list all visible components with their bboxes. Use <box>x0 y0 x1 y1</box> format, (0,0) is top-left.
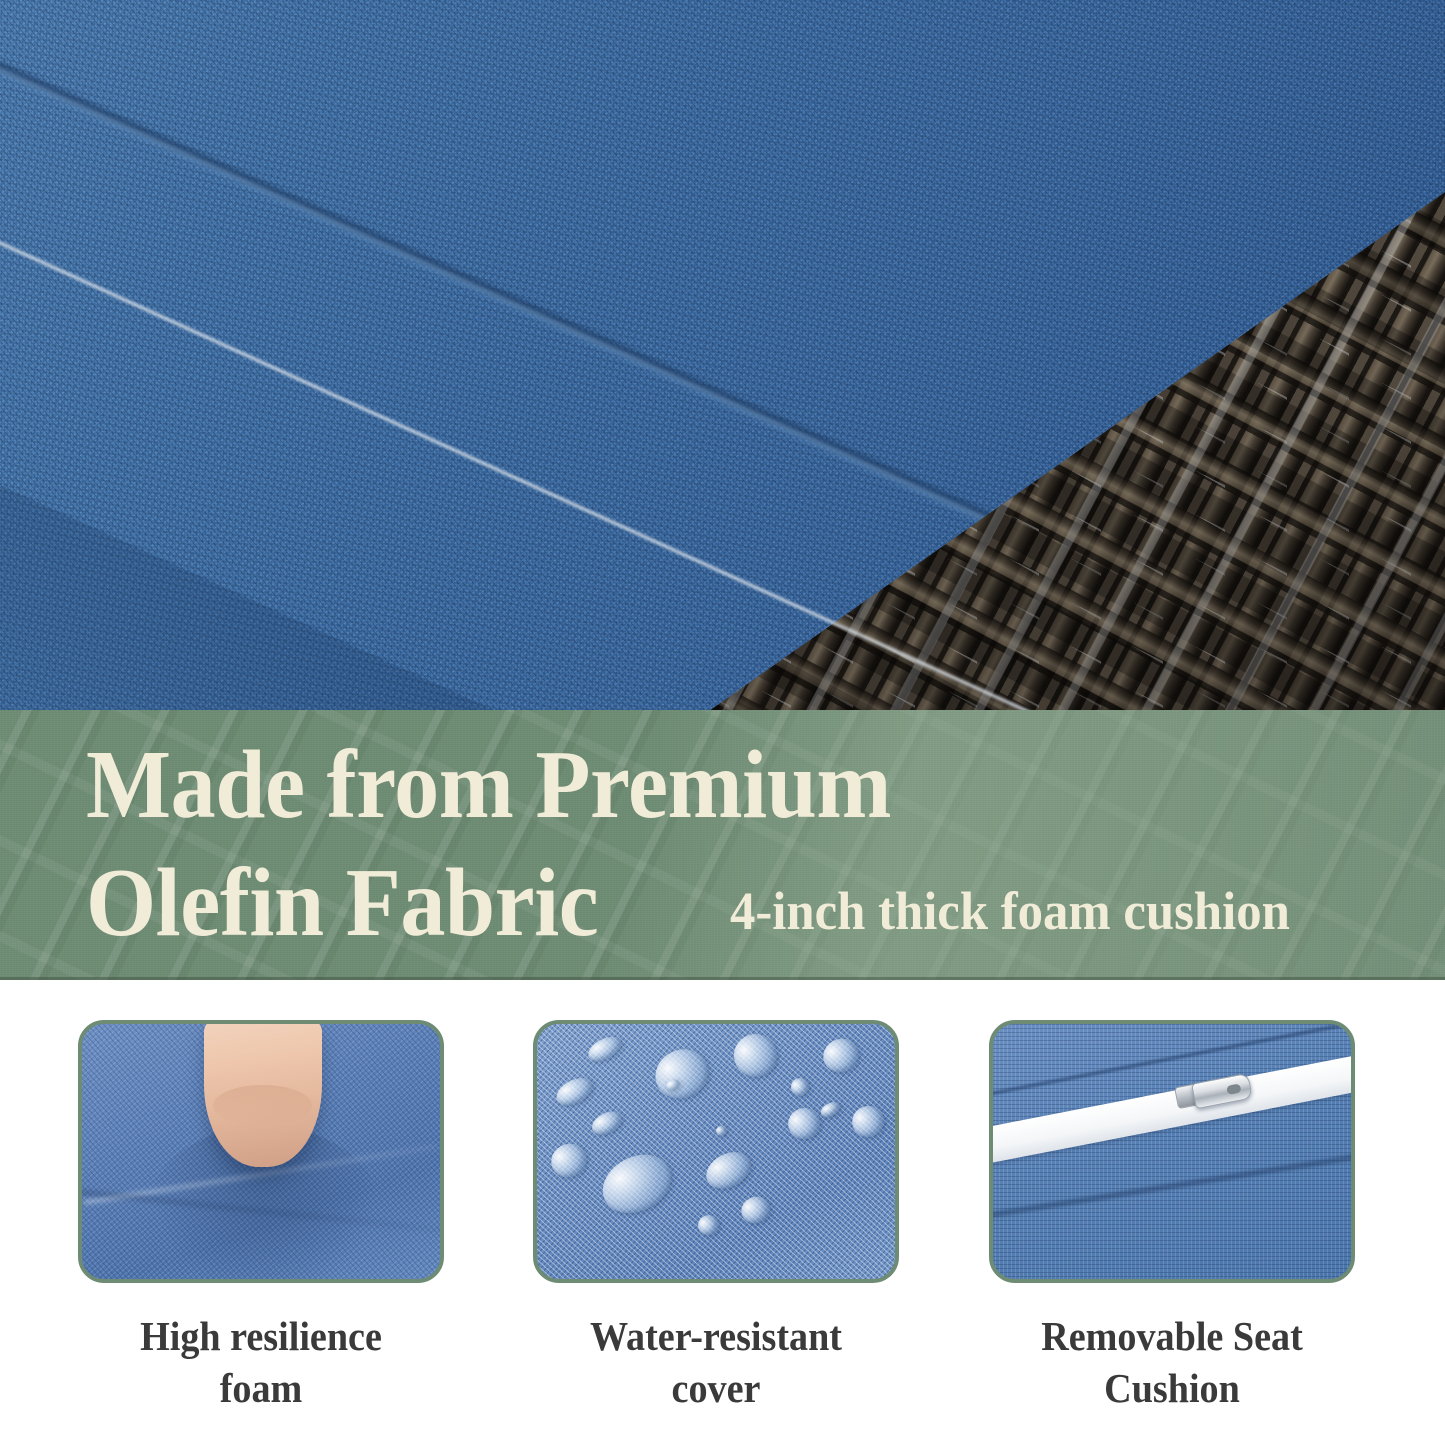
hand-icon <box>204 1020 322 1167</box>
feature-image-water-droplets <box>537 1024 895 1279</box>
caption-line-1: High resilience <box>140 1313 382 1359</box>
caption-line-1: Water-resistant <box>590 1313 842 1359</box>
caption-line-1: Removable Seat <box>1041 1313 1303 1359</box>
feature-caption-removable-seat-cushion: Removable Seat Cushion <box>1002 1310 1342 1414</box>
hero-product-photo <box>0 0 1445 712</box>
caption-line-2: Cushion <box>1104 1365 1240 1411</box>
feature-cards-section: High resilience foam <box>0 980 1445 1445</box>
headline-line-2: Olefin Fabric <box>86 849 598 957</box>
feature-image-zipper <box>993 1024 1351 1279</box>
banner-subline: 4-inch thick foam cushion <box>730 880 1290 942</box>
feature-card-high-resilience-foam[interactable] <box>78 1020 444 1283</box>
feature-card-water-resistant-cover[interactable] <box>533 1020 899 1283</box>
caption-line-2: cover <box>672 1365 761 1411</box>
headline-line-1: Made from Premium <box>86 731 891 839</box>
caption-line-2: foam <box>220 1365 303 1411</box>
product-feature-infographic: Made from Premium Olefin Fabric 4-inch t… <box>0 0 1445 1445</box>
feature-caption-water-resistant-cover: Water-resistant cover <box>546 1310 886 1414</box>
feature-image-hand-pressing-cushion <box>82 1024 440 1279</box>
feature-card-removable-seat-cushion[interactable] <box>989 1020 1355 1283</box>
feature-caption-high-resilience-foam: High resilience foam <box>91 1310 431 1414</box>
